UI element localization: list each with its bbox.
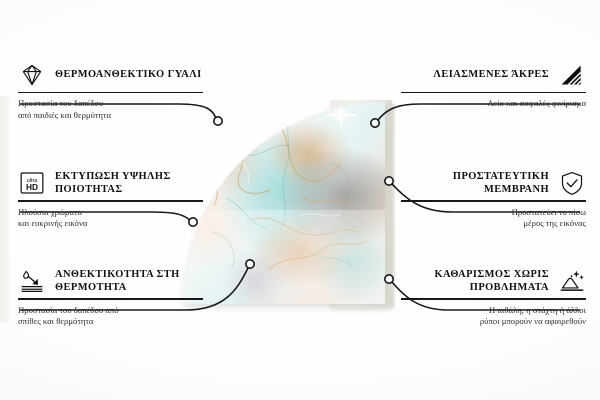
feature-high-quality-print[interactable]: ultra HD ΕΚΤΥΠΩΣΗ ΥΨΗΛΗΣ ΠΟΙΟΤΗΤΑΣ Πλούσ… (18, 170, 203, 230)
feature-subtitle: Πλούσια χρώματα και ευκρινής εικόνα (18, 207, 203, 230)
feature-subtitle-line2: ρύποι μπορούν να αφαιρεθούν (401, 316, 586, 328)
feature-header: ΑΝΘΕΚΤΙΚΟΤΗΤΑ ΣΤΗ ΘΕΡΜΟΤΗΤΑ (18, 268, 203, 294)
shield-check-icon (558, 170, 586, 196)
feature-header: ultra HD ΕΚΤΥΠΩΣΗ ΥΨΗΛΗΣ ΠΟΙΟΤΗΤΑΣ (18, 170, 203, 196)
feature-subtitle-line2: σπίθες και θερμότητα (18, 316, 203, 328)
ultra-hd-icon: ultra HD (18, 170, 46, 196)
backing-board-edge (390, 104, 395, 308)
feature-header: ΘΕΡΜΟΑΝΘΕΚΤΙΚΟ ΓΥΑΛΙ (18, 62, 203, 88)
feature-subtitle: Προστατεύει το πίσω μέρος της εικόνας (401, 207, 586, 230)
feature-subtitle-line1: Η αιθάλη, η στάχτη ή άλλοι (401, 305, 586, 317)
sponge-sparkle-icon (558, 268, 586, 294)
feature-trouble-free-cleaning[interactable]: ΚΑΘΑΡΙΣΜΟΣ ΧΩΡΙΣ ΠΡΟΒΛΗΜΑΤΑ Η αιθάλη, η … (401, 268, 586, 328)
feature-header: ΚΑΘΑΡΙΣΜΟΣ ΧΩΡΙΣ ΠΡΟΒΛΗΜΑΤΑ (401, 268, 586, 294)
feature-subtitle: Η αιθάλη, η στάχτη ή άλλοι ρύποι μπορούν… (401, 305, 586, 328)
feature-divider (18, 92, 203, 93)
feature-subtitle: Λείο και ασφαλές φινίρισμα (401, 98, 586, 110)
infographic-canvas: ΘΕΡΜΟΑΝΘΕΚΤΙΚΟ ΓΥΑΛΙ Προστασία του δαπέδ… (0, 0, 600, 400)
feature-heat-resistant-glass[interactable]: ΘΕΡΜΟΑΝΘΕΚΤΙΚΟ ΓΥΑΛΙ Προστασία του δαπέδ… (18, 62, 203, 122)
feature-title: ΛΕΙΑΣΜΕΝΕΣ ΆΚΡΕΣ (401, 68, 549, 81)
feature-subtitle-line2: από παιδιές και θερμότητα (18, 110, 203, 122)
glass-reflection-band (182, 210, 385, 304)
feature-divider (18, 298, 203, 299)
diagonal-stripes-icon (558, 62, 586, 88)
feature-divider (401, 92, 586, 93)
feature-subtitle: Προστασία του δαπέδου από παιδιές και θε… (18, 98, 203, 121)
feature-subtitle-line2: μέρος της εικόνας (401, 218, 586, 230)
feature-subtitle-line1: Προστασία του δαπέδου από (18, 305, 203, 317)
feature-title: ΕΚΤΥΠΩΣΗ ΥΨΗΛΗΣ ΠΟΙΟΤΗΤΑΣ (55, 170, 203, 196)
ultra-hd-bottom-label: HD (26, 182, 38, 192)
glass-glare-star (324, 102, 358, 128)
feature-title: ΑΝΘΕΚΤΙΚΟΤΗΤΑ ΣΤΗ ΘΕΡΜΟΤΗΤΑ (55, 268, 203, 294)
feature-header: ΛΕΙΑΣΜΕΝΕΣ ΆΚΡΕΣ (401, 62, 586, 88)
feature-divider (401, 298, 586, 299)
feature-subtitle-line2: και ευκρινής εικόνα (18, 218, 203, 230)
feature-subtitle-line1: Προστασία του δαπέδου (18, 98, 203, 110)
feature-protective-membrane[interactable]: ΠΡΟΣΤΑΤΕΥΤΙΚΗ ΜΕΜΒΡΑΝΗ Προστατεύει το πί… (401, 170, 586, 230)
feature-polished-edges[interactable]: ΛΕΙΑΣΜΕΝΕΣ ΆΚΡΕΣ Λείο και ασφαλές φινίρι… (401, 62, 586, 110)
feature-subtitle: Προστασία του δαπέδου από σπίθες και θερ… (18, 305, 203, 328)
diamond-icon (18, 62, 46, 88)
feature-title: ΘΕΡΜΟΑΝΘΕΚΤΙΚΟ ΓΥΑΛΙ (55, 68, 203, 81)
glass-panel (182, 102, 385, 304)
feature-divider (401, 200, 586, 201)
feature-title: ΠΡΟΣΤΑΤΕΥΤΙΚΗ ΜΕΜΒΡΑΝΗ (401, 170, 549, 196)
feature-title: ΚΑΘΑΡΙΣΜΟΣ ΧΩΡΙΣ ΠΡΟΒΛΗΜΑΤΑ (401, 268, 549, 294)
product-image (180, 96, 405, 316)
feature-divider (18, 200, 203, 201)
feature-heat-durability[interactable]: ΑΝΘΕΚΤΙΚΟΤΗΤΑ ΣΤΗ ΘΕΡΜΟΤΗΤΑ Προστασία το… (18, 268, 203, 328)
wall-left-edge (0, 96, 9, 322)
feature-subtitle-line1: Λείο και ασφαλές φινίρισμα (401, 98, 586, 110)
flame-deflect-icon (18, 268, 46, 294)
feature-header: ΠΡΟΣΤΑΤΕΥΤΙΚΗ ΜΕΜΒΡΑΝΗ (401, 170, 586, 196)
feature-subtitle-line1: Πλούσια χρώματα (18, 207, 203, 219)
feature-subtitle-line1: Προστατεύει το πίσω (401, 207, 586, 219)
